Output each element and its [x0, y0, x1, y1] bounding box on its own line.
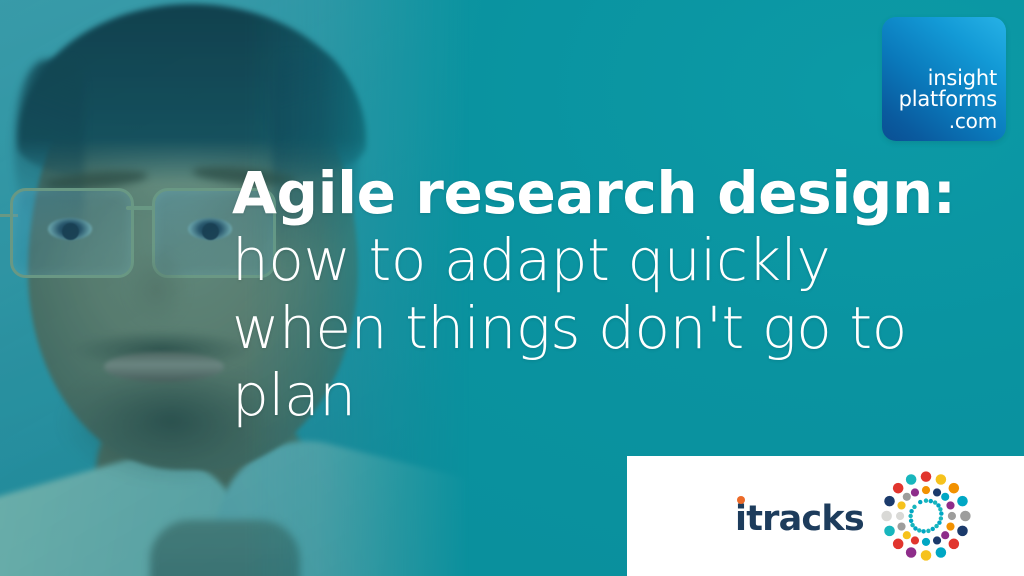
headline-line-4: plan	[232, 362, 1002, 429]
itracks-logo[interactable]: itracks	[735, 468, 974, 564]
presentation-slide: Agile research design: how to adapt quic…	[0, 0, 1024, 576]
insight-platforms-line-2: platforms	[899, 89, 997, 111]
itracks-wordmark-container: itracks	[735, 496, 864, 537]
insight-platforms-line-1: insight	[899, 68, 997, 90]
slide-headline: Agile research design: how to adapt quic…	[232, 160, 1002, 429]
insight-platforms-wordmark: insight platforms .com	[899, 68, 997, 132]
headline-line-3: when things don't go to	[232, 295, 1002, 362]
headline-line-1: Agile research design:	[232, 160, 1002, 227]
itracks-logo-panel: itracks	[627, 456, 1024, 576]
insight-platforms-logo[interactable]: insight platforms .com	[882, 17, 1006, 141]
itracks-dot-ring-icon	[878, 468, 974, 564]
insight-platforms-line-3: .com	[899, 111, 997, 132]
itracks-wordmark: itracks	[735, 499, 864, 539]
itracks-i-dot-icon	[737, 496, 745, 504]
headline-line-2: how to adapt quickly	[232, 227, 1002, 294]
